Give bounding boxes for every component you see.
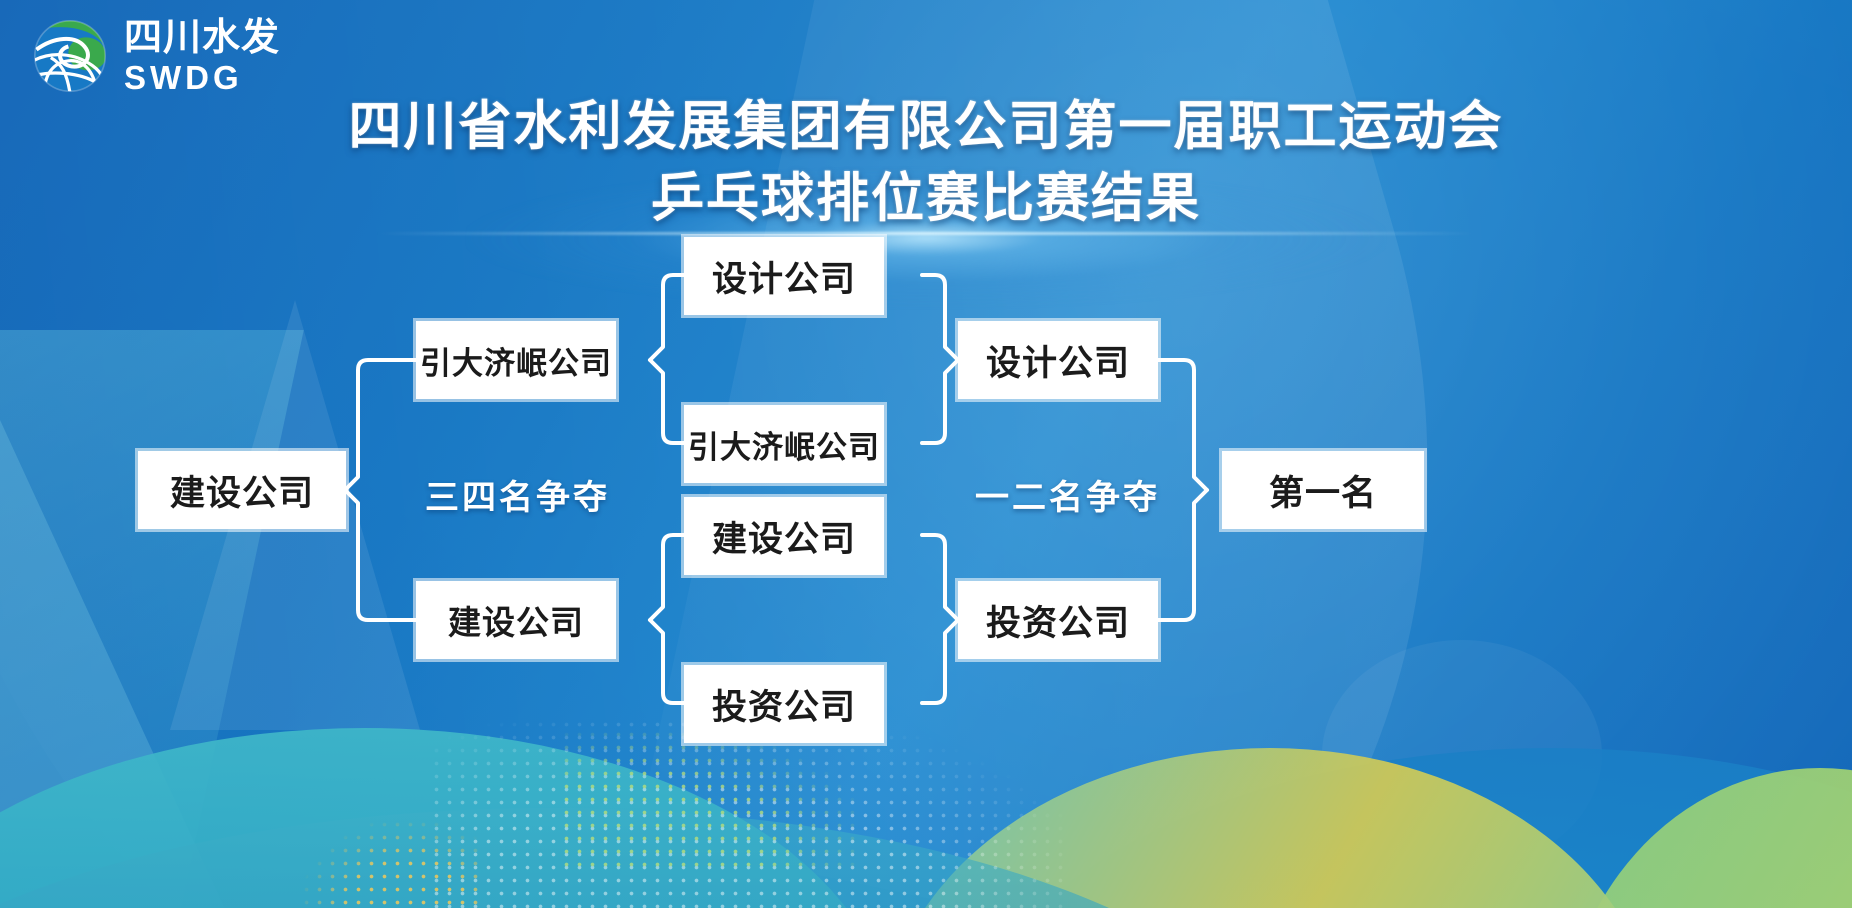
bracket-box-label: 设计公司 bbox=[986, 335, 1130, 386]
stage-label-right: 一二名争夺 bbox=[975, 470, 1160, 519]
poster-canvas: 四川水发 SWDG 四川省水利发展集团有限公司第一届职工运动会 乒乓球排位赛比赛… bbox=[0, 0, 1852, 908]
bracket-box-round2-lower-a[interactable]: 建设公司 bbox=[684, 497, 884, 575]
bracket-box-label: 投资公司 bbox=[986, 595, 1130, 646]
bracket-box-round2-lower-b[interactable]: 投资公司 bbox=[684, 665, 884, 743]
globe-wave-logo-icon bbox=[30, 16, 110, 96]
bracket-box-round3-lower[interactable]: 投资公司 bbox=[958, 581, 1158, 659]
brand-name-en: SWDG bbox=[124, 61, 280, 94]
title-light-ray bbox=[376, 232, 1476, 235]
bracket-box-round2-upper-a[interactable]: 设计公司 bbox=[684, 237, 884, 315]
tournament-bracket: 建设公司 引大济岷公司 建设公司 设计公司 引大济岷公司 建设公司 投资公司 设… bbox=[0, 255, 1852, 725]
bracket-box-round2-upper-b[interactable]: 引大济岷公司 bbox=[684, 405, 884, 483]
bracket-box-label: 引大济岷公司 bbox=[420, 338, 612, 383]
halftone-dots-green bbox=[560, 728, 860, 868]
bracket-box-label: 建设公司 bbox=[712, 511, 856, 562]
title-line-1: 四川省水利发展集团有限公司第一届职工运动会 bbox=[0, 96, 1852, 158]
bracket-box-label: 投资公司 bbox=[712, 679, 856, 730]
bracket-box-round1-lower[interactable]: 建设公司 bbox=[416, 581, 616, 659]
brand-wordmark: 四川水发 SWDG bbox=[124, 18, 280, 94]
bracket-box-label: 建设公司 bbox=[448, 596, 584, 644]
bracket-box-round3-upper[interactable]: 设计公司 bbox=[958, 321, 1158, 399]
brand-logo: 四川水发 SWDG bbox=[30, 16, 280, 96]
page-title: 四川省水利发展集团有限公司第一届职工运动会 乒乓球排位赛比赛结果 bbox=[0, 96, 1852, 230]
stage-label-left: 三四名争夺 bbox=[425, 470, 610, 519]
bracket-box-final[interactable]: 第一名 bbox=[1222, 451, 1424, 529]
bracket-box-label: 设计公司 bbox=[712, 251, 856, 302]
bracket-box-round1-upper[interactable]: 引大济岷公司 bbox=[416, 321, 616, 399]
bracket-box-label: 引大济岷公司 bbox=[688, 422, 880, 467]
brand-name-cn: 四川水发 bbox=[124, 18, 280, 56]
bracket-box-label: 第一名 bbox=[1269, 465, 1377, 516]
bracket-box-entry[interactable]: 建设公司 bbox=[138, 451, 346, 529]
halftone-dots-yellow bbox=[300, 818, 480, 908]
title-line-2: 乒乓球排位赛比赛结果 bbox=[0, 168, 1852, 230]
bracket-box-label: 建设公司 bbox=[170, 465, 314, 516]
